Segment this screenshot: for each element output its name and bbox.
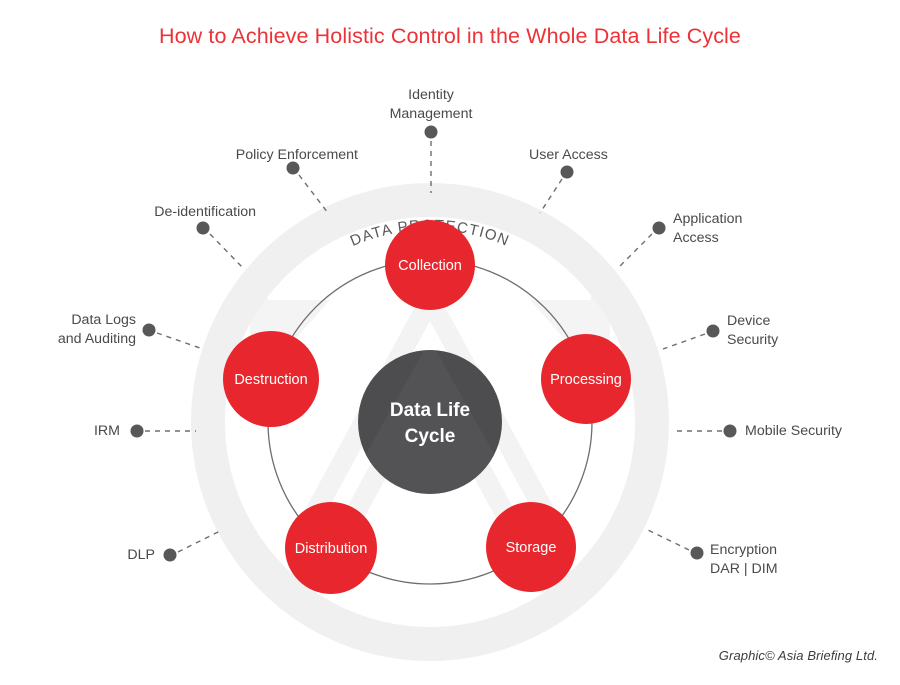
cycle-node-destruction[interactable]: Destruction (223, 331, 319, 427)
node-label-destruction: Destruction (234, 372, 307, 388)
hub-label-line1: Data Life (390, 400, 470, 421)
leader-data-logs-auditing (157, 333, 200, 348)
leader-encryption-dar-dim (646, 529, 689, 550)
leader-de-identification (210, 234, 243, 268)
callout-label-application-access[interactable]: Application Access (673, 210, 853, 247)
cycle-node-distribution[interactable]: Distribution (285, 502, 377, 594)
node-label-distribution: Distribution (295, 541, 368, 557)
dot-dlp[interactable] (164, 549, 177, 562)
leader-dlp (178, 530, 222, 552)
node-label-collection: Collection (398, 258, 462, 274)
callout-label-device-security[interactable]: Device Security (727, 312, 887, 349)
graphic-credit: Graphic© Asia Briefing Ltd. (719, 648, 878, 663)
dot-de-identification[interactable] (197, 222, 210, 235)
cycle-node-processing[interactable]: Processing (541, 334, 631, 424)
callout-label-user-access[interactable]: User Access (529, 146, 709, 165)
leader-application-access (620, 234, 652, 266)
hub-label-line2: Cycle (405, 426, 456, 447)
cycle-node-collection[interactable]: Collection (385, 220, 475, 310)
callout-label-mobile-security[interactable]: Mobile Security (745, 422, 900, 441)
dot-identity-management[interactable] (425, 126, 438, 139)
leader-policy-enforcement (299, 175, 328, 213)
dot-encryption-dar-dim[interactable] (691, 547, 704, 560)
dot-user-access[interactable] (561, 166, 574, 179)
dot-application-access[interactable] (653, 222, 666, 235)
callout-label-de-identification[interactable]: De-identification (76, 203, 256, 222)
leader-user-access (540, 179, 562, 213)
dot-device-security[interactable] (707, 325, 720, 338)
dot-data-logs-auditing[interactable] (143, 324, 156, 337)
callout-label-identity-management[interactable]: Identity Management (331, 86, 531, 123)
dot-irm[interactable] (131, 425, 144, 438)
callout-label-data-logs-auditing[interactable]: Data Logs and Auditing (0, 311, 136, 348)
diagram-page: How to Achieve Holistic Control in the W… (0, 0, 900, 685)
callout-label-policy-enforcement[interactable]: Policy Enforcement (158, 146, 358, 165)
node-label-processing: Processing (550, 372, 622, 388)
callout-label-irm[interactable]: IRM (20, 422, 120, 441)
leader-device-security (663, 334, 705, 349)
node-label-storage: Storage (506, 540, 557, 556)
dot-mobile-security[interactable] (724, 425, 737, 438)
callout-label-encryption-dar-dim[interactable]: Encryption DAR | DIM (710, 541, 890, 578)
cycle-node-storage[interactable]: Storage (486, 502, 576, 592)
callout-label-dlp[interactable]: DLP (55, 546, 155, 565)
